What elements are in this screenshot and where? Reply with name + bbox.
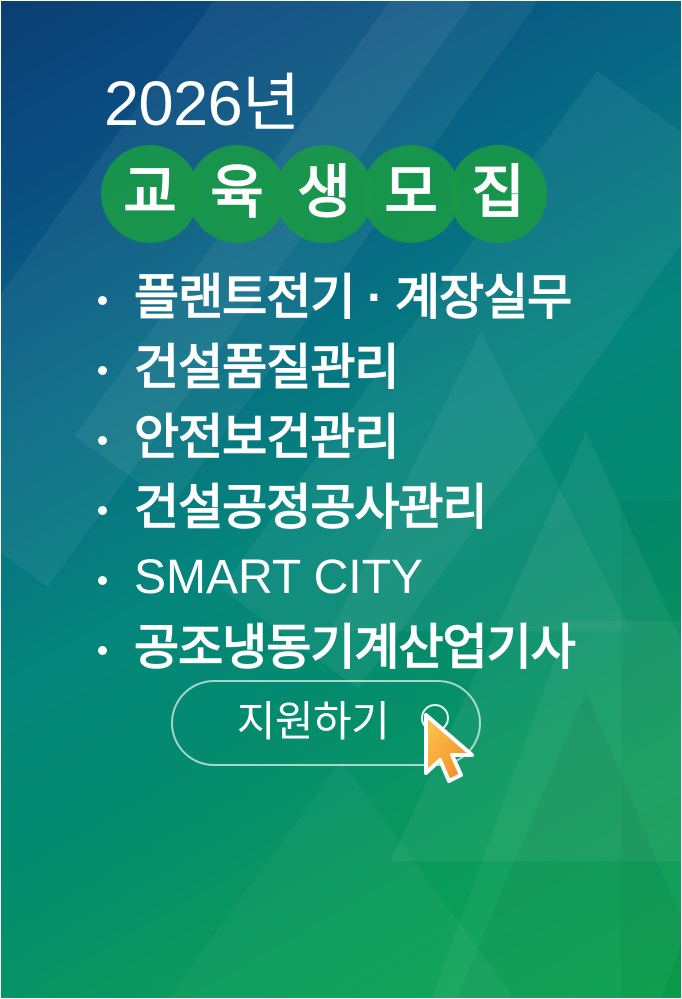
- course-label: 공조냉동기계산업기사: [134, 624, 575, 673]
- bullet-icon: [98, 506, 107, 515]
- list-item: 안전보건관리: [98, 403, 658, 473]
- course-label: 건설품질관리: [134, 344, 398, 393]
- promo-banner: 2026년 교 육 생 모 집 플랜트전기 · 계장실무: [0, 0, 682, 999]
- headline-char-3: 생: [297, 164, 350, 222]
- mouse-pointer-icon: [422, 713, 484, 785]
- apply-button-label: 지원하기: [237, 701, 390, 743]
- course-list: 플랜트전기 · 계장실무 건설품질관리 안전보건관리 건설공정공사관리 SMAR…: [98, 263, 658, 683]
- course-label: SMART CITY: [134, 554, 423, 602]
- headline-char-5: 집: [471, 164, 524, 222]
- headline-circle-1: 교: [101, 145, 199, 243]
- list-item: SMART CITY: [98, 543, 658, 613]
- course-label: 플랜트전기 · 계장실무: [134, 274, 571, 323]
- bullet-icon: [98, 646, 107, 655]
- headline-char-4: 모: [384, 164, 437, 222]
- bullet-icon: [98, 436, 107, 445]
- course-label: 안전보건관리: [134, 414, 398, 463]
- list-item: 건설공정공사관리: [98, 473, 658, 543]
- headline-circles: 교 육 생 모 집: [101, 145, 571, 245]
- course-label: 건설공정공사관리: [134, 484, 487, 533]
- headline-circle-2: 육: [188, 145, 286, 243]
- headline-circle-4: 모: [362, 145, 460, 243]
- headline-char-1: 교: [123, 164, 176, 222]
- headline-char-2: 육: [210, 164, 263, 222]
- year-title: 2026년: [104, 73, 300, 136]
- bullet-icon: [98, 296, 107, 305]
- bullet-icon: [98, 366, 107, 375]
- headline-circle-3: 생: [275, 145, 373, 243]
- list-item: 플랜트전기 · 계장실무: [98, 263, 658, 333]
- list-item: 공조냉동기계산업기사: [98, 613, 658, 683]
- list-item: 건설품질관리: [98, 333, 658, 403]
- bullet-icon: [98, 576, 107, 585]
- headline-circle-5: 집: [449, 145, 547, 243]
